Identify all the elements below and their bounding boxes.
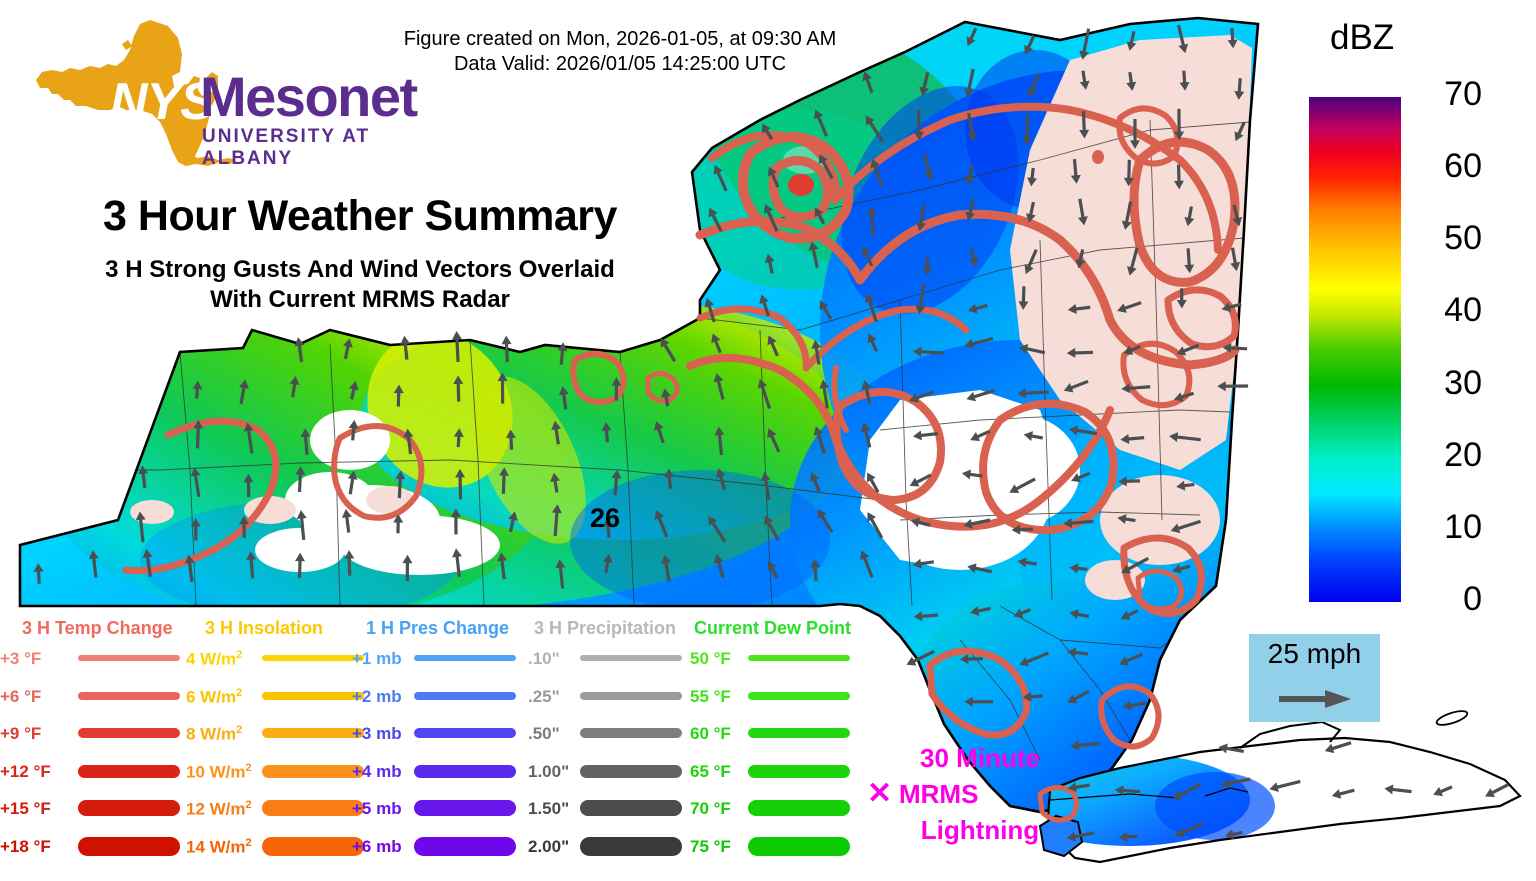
valid-timestamp: Data Valid: 2026/01/05 14:25:00 UTC xyxy=(300,52,940,77)
gust-value-label: 26 xyxy=(590,503,620,534)
legend-label-2-4: +5 mb xyxy=(352,799,402,819)
legend-header-0: 3 H Temp Change xyxy=(22,618,173,639)
legend-label-4-3: 65 °F xyxy=(690,762,731,782)
legend-swatch-0-5 xyxy=(78,837,180,856)
legend-swatch-1-1 xyxy=(262,692,364,700)
legend-swatch-4-0 xyxy=(748,655,850,661)
legend-swatch-2-4 xyxy=(414,800,516,816)
colorbar-tick-70: 70 xyxy=(1412,75,1482,114)
subtitle-line-1: 3 H Strong Gusts And Wind Vectors Overla… xyxy=(30,255,690,285)
legend-superscript: 2 xyxy=(236,649,242,661)
subtitle-line-2: With Current MRMS Radar xyxy=(30,285,690,315)
legend-label-1-4: 12 W/m2 xyxy=(186,799,252,820)
legend-header-3: 3 H Precipitation xyxy=(534,618,676,639)
legend-swatch-2-3 xyxy=(414,765,516,778)
legend-swatch-1-4 xyxy=(262,800,364,816)
legend-superscript: 2 xyxy=(246,799,252,811)
legend-label-0-4: +15 °F xyxy=(0,799,51,819)
legend-swatch-0-3 xyxy=(78,765,180,778)
legend-label-0-5: +18 °F xyxy=(0,837,51,857)
legend-label-4-5: 75 °F xyxy=(690,837,731,857)
colorbar-tick-20: 20 xyxy=(1412,436,1482,475)
colorbar-ticks: 706050403020100 xyxy=(1412,80,1522,620)
legend-swatch-4-1 xyxy=(748,692,850,700)
legend-label-1-2: 8 W/m2 xyxy=(186,724,242,745)
legend-label-1-3: 10 W/m2 xyxy=(186,762,252,783)
logo-university-text: UNIVERSITY AT ALBANY xyxy=(202,126,382,170)
legend-swatch-2-2 xyxy=(414,728,516,738)
legend-label-2-5: +6 mb xyxy=(352,837,402,857)
legend-swatch-4-3 xyxy=(748,765,850,778)
legend-label-4-0: 50 °F xyxy=(690,649,731,669)
legend-label-4-2: 60 °F xyxy=(690,724,731,744)
legend-label-4-4: 70 °F xyxy=(690,799,731,819)
legend-label-3-5: 2.00" xyxy=(528,837,569,857)
legend-swatch-1-5 xyxy=(262,837,364,856)
legend-label-3-3: 1.00" xyxy=(528,762,569,782)
legend-swatch-1-3 xyxy=(262,765,364,778)
legend-label-2-3: +4 mb xyxy=(352,762,402,782)
legend-superscript: 2 xyxy=(236,724,242,736)
gust-core xyxy=(788,174,814,196)
legend-swatch-1-0 xyxy=(262,655,364,661)
legend-swatch-3-0 xyxy=(580,655,682,661)
page-title: 3 Hour Weather Summary xyxy=(30,192,690,241)
legend-swatch-4-2 xyxy=(748,728,850,738)
legend-header-2: 1 H Pres Change xyxy=(366,618,509,639)
figure-timestamps: Figure created on Mon, 2026-01-05, at 09… xyxy=(300,27,940,77)
legend-label-0-2: +9 °F xyxy=(0,724,41,744)
legend-label-1-0: 4 W/m2 xyxy=(186,649,242,670)
legend-swatch-3-1 xyxy=(580,692,682,700)
legend-swatch-3-4 xyxy=(580,800,682,816)
legend-label-3-4: 1.50" xyxy=(528,799,569,819)
legend-label-0-3: +12 °F xyxy=(0,762,51,782)
legend-header-1: 3 H Insolation xyxy=(205,618,323,639)
legend-label-1-5: 14 W/m2 xyxy=(186,837,252,858)
colorbar-title: dBZ xyxy=(1330,18,1394,58)
created-timestamp: Figure created on Mon, 2026-01-05, at 09… xyxy=(300,27,940,52)
legend-swatch-0-2 xyxy=(78,728,180,738)
logo-nys-text: NYS xyxy=(110,72,214,132)
legend-swatch-2-0 xyxy=(414,655,516,661)
wind-key-label: 25 mph xyxy=(1249,638,1380,670)
legend-swatch-0-0 xyxy=(78,655,180,661)
lightning-key-line-1: 30 Minute xyxy=(885,740,1075,776)
legend-header-4: Current Dew Point xyxy=(694,618,851,639)
legend-label-4-1: 55 °F xyxy=(690,687,731,707)
legend-swatch-3-3 xyxy=(580,765,682,778)
legend-swatch-2-5 xyxy=(414,837,516,856)
legend-swatch-2-1 xyxy=(414,692,516,700)
wind-vector-key: 25 mph xyxy=(1249,634,1380,722)
colorbar-tick-60: 60 xyxy=(1412,147,1482,186)
gust-core-small xyxy=(1092,150,1104,164)
legend-superscript: 2 xyxy=(236,687,242,699)
legend-swatch-3-2 xyxy=(580,728,682,738)
legend-label-1-1: 6 W/m2 xyxy=(186,687,242,708)
legend-label-3-1: .25" xyxy=(528,687,560,707)
lightning-key-line-3: Lightning xyxy=(885,812,1075,848)
page-subtitle: 3 H Strong Gusts And Wind Vectors Overla… xyxy=(30,255,690,315)
legend-label-0-1: +6 °F xyxy=(0,687,41,707)
colorbar-tick-10: 10 xyxy=(1412,508,1482,547)
variable-legend: 3 H Temp Change+3 °F+6 °F+9 °F+12 °F+15 … xyxy=(0,618,880,876)
colorbar-tick-40: 40 xyxy=(1412,291,1482,330)
legend-swatch-4-4 xyxy=(748,800,850,816)
colorbar-tick-30: 30 xyxy=(1412,364,1482,403)
legend-swatch-0-1 xyxy=(78,692,180,700)
legend-superscript: 2 xyxy=(246,762,252,774)
legend-label-2-2: +3 mb xyxy=(352,724,402,744)
legend-swatch-4-5 xyxy=(748,837,850,856)
legend-label-3-2: .50" xyxy=(528,724,560,744)
colorbar-tick-0: 0 xyxy=(1412,580,1482,619)
dbz-colorbar xyxy=(1309,97,1401,602)
wind-arrow-icon xyxy=(1277,688,1355,710)
lightning-key-line-2: MRMS xyxy=(899,776,1089,812)
legend-swatch-3-5 xyxy=(580,837,682,856)
legend-swatch-0-4 xyxy=(78,800,180,816)
legend-label-2-1: +2 mb xyxy=(352,687,402,707)
legend-label-3-0: .10" xyxy=(528,649,560,669)
legend-label-0-0: +3 °F xyxy=(0,649,41,669)
legend-superscript: 2 xyxy=(246,837,252,849)
colorbar-tick-50: 50 xyxy=(1412,219,1482,258)
lightning-key: 30 Minute ✕ MRMS Lightning xyxy=(875,740,1065,850)
legend-label-2-0: +1 mb xyxy=(352,649,402,669)
legend-swatch-1-2 xyxy=(262,728,364,738)
